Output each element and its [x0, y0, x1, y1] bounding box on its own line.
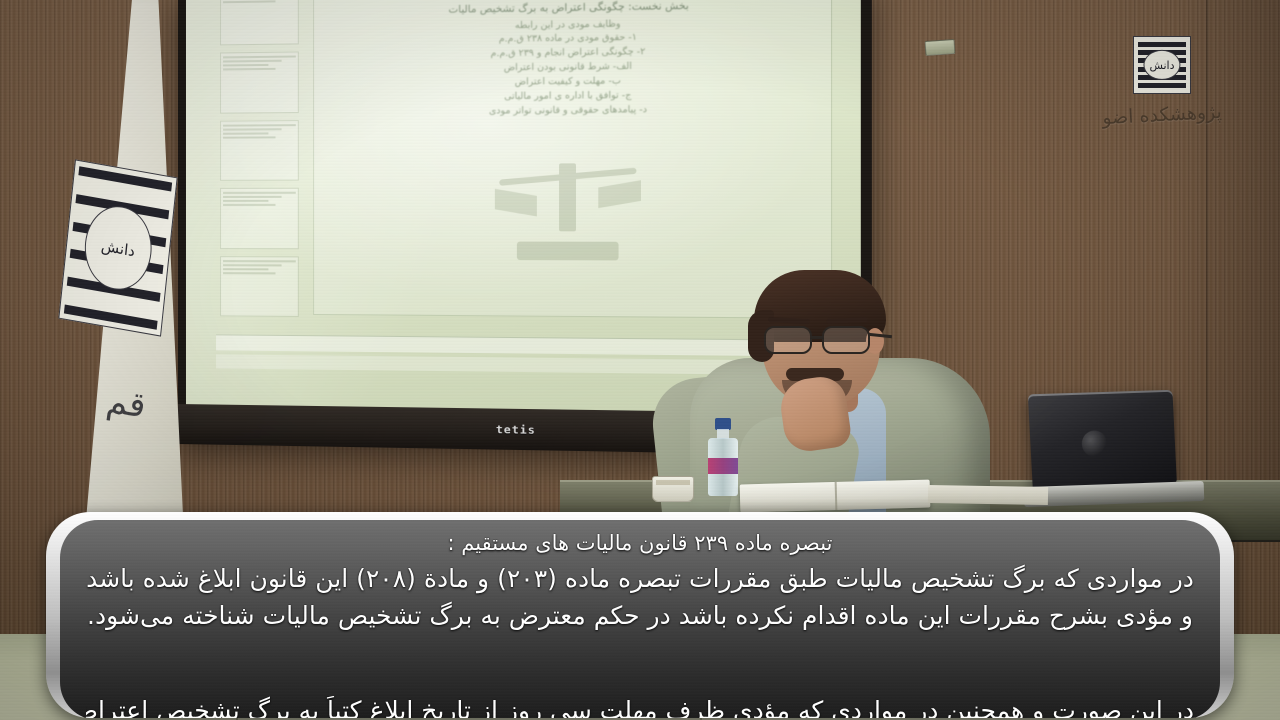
caption-panel: تبصره ماده ۲۳۹ قانون مالیات های مستقیم :… [46, 512, 1234, 718]
slide-thumbnail[interactable] [220, 0, 299, 46]
wall-institution-logo: دانش پژوهشکده اضو [1102, 36, 1222, 156]
institutional-flag: دانش قم [32, 0, 212, 520]
video-frame: بخش نخست: چگونگی اعتراض به برگ تشخیص مال… [0, 0, 1280, 720]
caption-line-2: و مؤدی بشرح مقررات این ماده اقدام نکرده … [86, 597, 1194, 634]
glasses-icon [760, 326, 884, 354]
laptop-lid [1028, 390, 1177, 494]
slide-thumbnail[interactable] [220, 52, 299, 114]
caption-line-1: در مواردی که برگ تشخیص مالیات طبق مقررات… [86, 560, 1194, 597]
slide-thumbnail-panel[interactable] [220, 0, 299, 317]
light-switch[interactable] [925, 39, 956, 56]
open-book [740, 480, 931, 513]
water-bottle [708, 418, 738, 496]
caption-inner: تبصره ماده ۲۳۹ قانون مالیات های مستقیم :… [60, 520, 1220, 718]
slide-thumbnail[interactable] [220, 120, 299, 181]
slide-thumbnail[interactable] [220, 188, 299, 249]
caption-partial-line-clip: در این صورت و همچنین در مواردی که مؤدی ظ… [86, 696, 1194, 718]
slide-line: د- پیامدهای حقوقی و قانونی تواتر مودی [341, 103, 803, 121]
laptop[interactable] [1030, 392, 1190, 512]
flag-emblem: دانش [58, 159, 177, 336]
slide-content: بخش نخست: چگونگی اعتراض به برگ تشخیص مال… [326, 0, 817, 305]
caption-title: تبصره ماده ۲۳۹ قانون مالیات های مستقیم : [86, 528, 1194, 560]
flag-script-text: قم [100, 384, 199, 466]
slide-thumbnail[interactable] [220, 256, 299, 317]
tea-cup [652, 476, 694, 502]
logo-emblem: دانش [1133, 36, 1191, 94]
screen-brand-label: tetis [496, 422, 536, 436]
caption-line-3-partial: در این صورت و همچنین در مواردی که مؤدی ظ… [86, 696, 1194, 718]
eyebrows [768, 318, 872, 323]
emblem-calligraphy-circle: دانش [1143, 50, 1180, 80]
logo-wordmark: پژوهشکده اضو [1102, 101, 1223, 129]
papers [928, 485, 1048, 505]
